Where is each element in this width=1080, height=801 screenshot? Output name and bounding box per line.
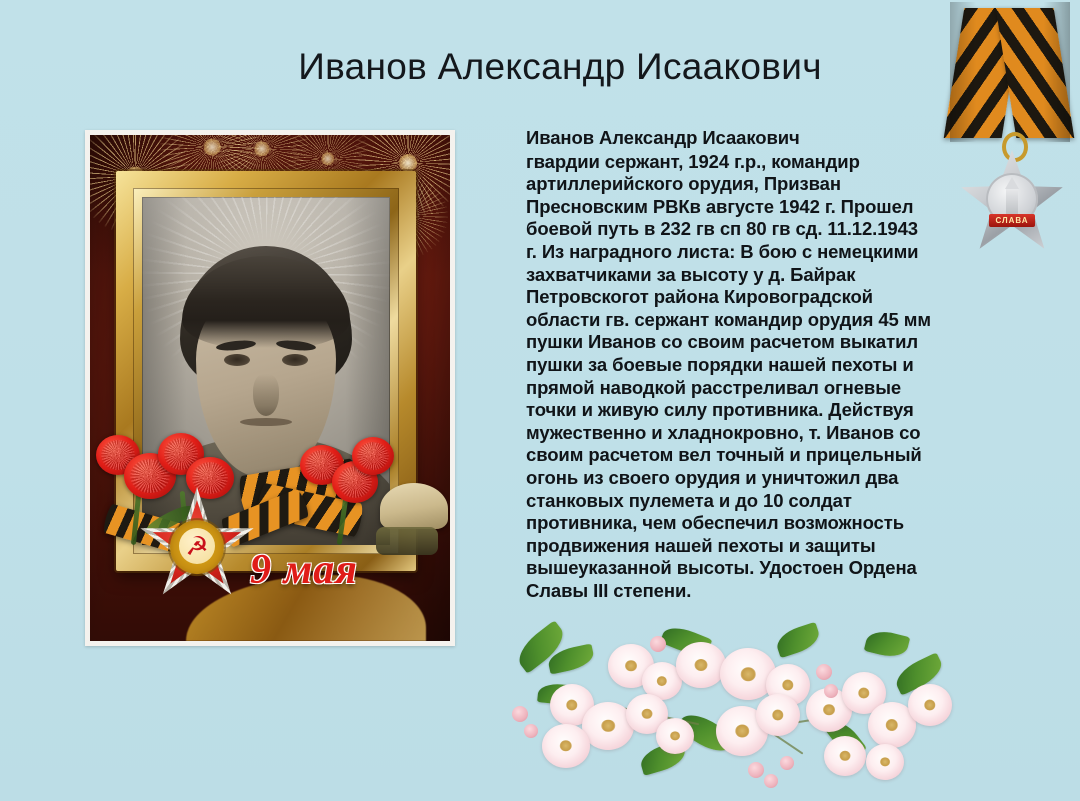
hammer-and-sickle-icon: ☭ bbox=[183, 532, 211, 560]
blossom-flower bbox=[676, 642, 726, 688]
blossom-flower bbox=[756, 694, 800, 736]
blossom-bud bbox=[650, 636, 666, 652]
blossom-bud bbox=[748, 762, 764, 778]
blossom-flower bbox=[542, 724, 590, 768]
victory-day-collage: ☭ 9 мая bbox=[90, 431, 450, 641]
photo-collage: ☭ 9 мая bbox=[90, 135, 450, 641]
order-of-patriotic-war-icon: ☭ bbox=[138, 487, 256, 605]
page-title: Иванов Александр Исаакович bbox=[0, 44, 1080, 90]
pilotka-cap-icon bbox=[380, 483, 448, 529]
blossom-bud bbox=[816, 664, 832, 680]
binoculars-icon bbox=[376, 527, 438, 555]
slide-canvas: Иванов Александр Исаакович bbox=[0, 0, 1080, 801]
cherry-blossom-decoration bbox=[490, 628, 1080, 801]
memorial-photo-card: ☭ 9 мая bbox=[85, 130, 455, 646]
st-george-ribbon-medal bbox=[950, 2, 1070, 142]
blossom-flower bbox=[824, 736, 866, 776]
biography-paragraph: гвардии сержант, 1924 г.р., командир арт… bbox=[526, 151, 932, 603]
biography-name-line: Иванов Александр Исаакович bbox=[526, 127, 932, 150]
blossom-leaf bbox=[864, 627, 911, 660]
biography-text-block: Иванов Александр Исаакович гвардии сержа… bbox=[526, 127, 932, 602]
order-of-glory-medal: СЛАВА bbox=[944, 2, 1076, 260]
blossom-bud bbox=[764, 774, 778, 788]
red-carnation-icon bbox=[352, 437, 394, 475]
blossom-flower bbox=[866, 744, 904, 780]
blossom-bud bbox=[524, 724, 538, 738]
victory-day-caption: 9 мая bbox=[250, 549, 358, 591]
blossom-bud bbox=[512, 706, 528, 722]
blossom-bud bbox=[824, 684, 838, 698]
ribbon-shading bbox=[950, 2, 1070, 142]
medal-star-icon: СЛАВА bbox=[958, 148, 1066, 254]
blossom-flower bbox=[656, 718, 694, 754]
blossom-flower bbox=[908, 684, 952, 726]
blossom-bud bbox=[780, 756, 794, 770]
medal-inscription: СЛАВА bbox=[989, 214, 1035, 227]
blossom-leaf bbox=[773, 622, 822, 658]
